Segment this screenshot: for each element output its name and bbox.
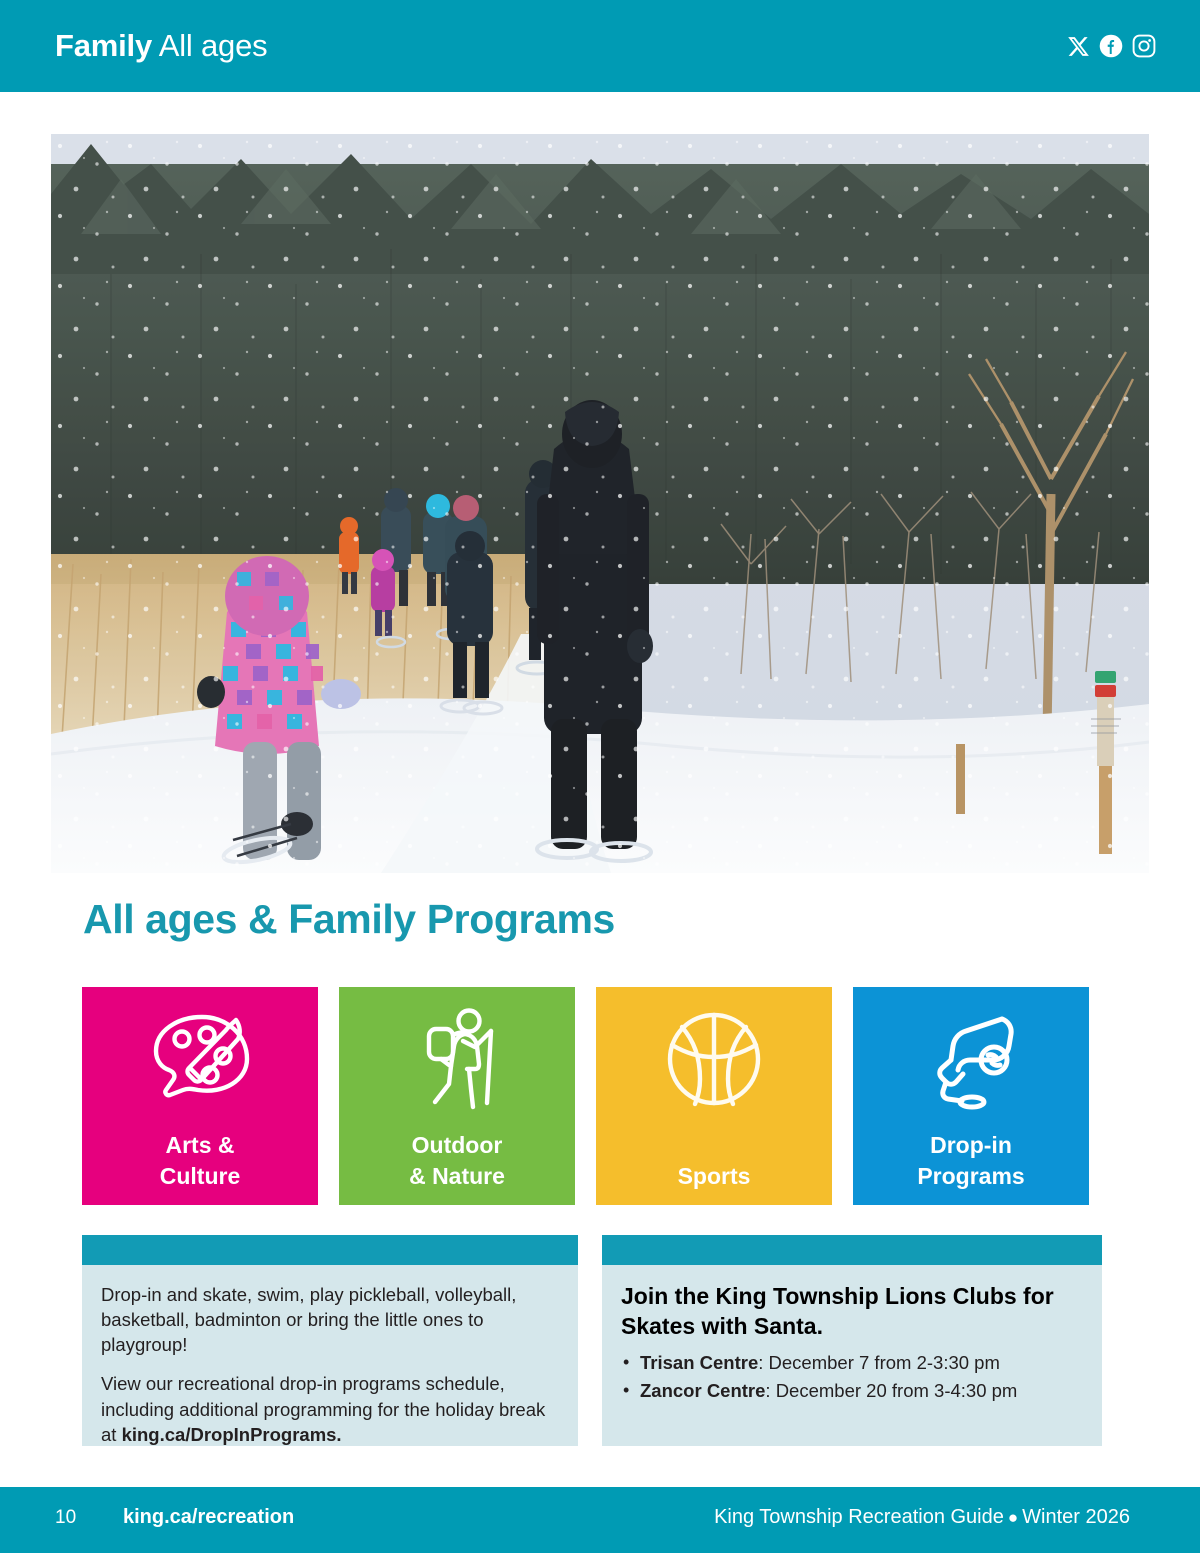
social-links [1067,34,1156,58]
list-item: Trisan Centre: December 7 from 2-3:30 pm [621,1349,1083,1377]
category-tiles: Arts & Culture [82,987,1102,1205]
dropin-info-box-body: Drop-in and skate, swim, play pickleball… [82,1265,578,1465]
section-heading: All ages & Family Programs [83,896,615,943]
instagram-icon[interactable] [1132,34,1156,58]
dropin-programs-link[interactable]: king.ca/DropInPrograms. [122,1424,342,1445]
tile-label-sports: Sports [596,1161,832,1191]
footer-guide-title: King Township Recreation Guide [714,1506,1004,1528]
hiker-icon [407,1005,507,1113]
tile-label-outdoor-nature: Outdoor & Nature [339,1130,575,1191]
page-title: Family All ages [55,28,267,64]
basketball-icon [662,1005,766,1113]
venue-zancor-centre: Zancor Centre [640,1380,765,1401]
tile-sports[interactable]: Sports [596,987,832,1205]
venue-zancor-detail: : December 20 from 3-4:30 pm [765,1380,1017,1401]
venue-trisan-centre: Trisan Centre [640,1352,758,1373]
skates-with-santa-heading: Join the King Township Lions Clubs for S… [621,1282,1083,1342]
whistle-icon [918,1005,1024,1113]
skates-with-santa-list: Trisan Centre: December 7 from 2-3:30 pm… [621,1349,1083,1405]
tile-label-dropin-programs: Drop-in Programs [853,1130,1089,1191]
tile-arts-culture[interactable]: Arts & Culture [82,987,318,1205]
tile-dropin-programs[interactable]: Drop-in Programs [853,987,1089,1205]
footer-page-number: 10 [55,1507,76,1529]
dropin-info-box: Drop-in and skate, swim, play pickleball… [82,1235,578,1446]
page-root: Family All ages [0,0,1200,1553]
dropin-paragraph-2: View our recreational drop-in programs s… [101,1371,559,1446]
skates-with-santa-box-bar [602,1235,1102,1265]
dropin-info-box-bar [82,1235,578,1265]
skates-with-santa-box-body: Join the King Township Lions Clubs for S… [602,1265,1102,1422]
dropin-paragraph-1: Drop-in and skate, swim, play pickleball… [101,1282,559,1357]
page-title-primary: Family [55,28,152,63]
tile-outdoor-nature[interactable]: Outdoor & Nature [339,987,575,1205]
skates-with-santa-box: Join the King Township Lions Clubs for S… [602,1235,1102,1446]
tile-label-arts-culture: Arts & Culture [82,1130,318,1191]
footer-guide-info: King Township Recreation Guide●Winter 20… [714,1506,1130,1529]
footer-separator-dot: ● [1004,1508,1022,1527]
page-title-secondary: All ages [159,28,268,63]
page-footer: 10 king.ca/recreation King Township Recr… [0,1487,1200,1553]
page-header: Family All ages [0,0,1200,92]
x-twitter-icon[interactable] [1067,35,1090,58]
facebook-icon[interactable] [1099,34,1123,58]
hero-photo [51,134,1149,873]
list-item: Zancor Centre: December 20 from 3-4:30 p… [621,1377,1083,1405]
footer-url-link[interactable]: king.ca/recreation [123,1506,294,1529]
venue-trisan-detail: : December 7 from 2-3:30 pm [758,1352,1000,1373]
footer-season: Winter 2026 [1022,1506,1130,1528]
paint-palette-icon [144,1005,256,1113]
